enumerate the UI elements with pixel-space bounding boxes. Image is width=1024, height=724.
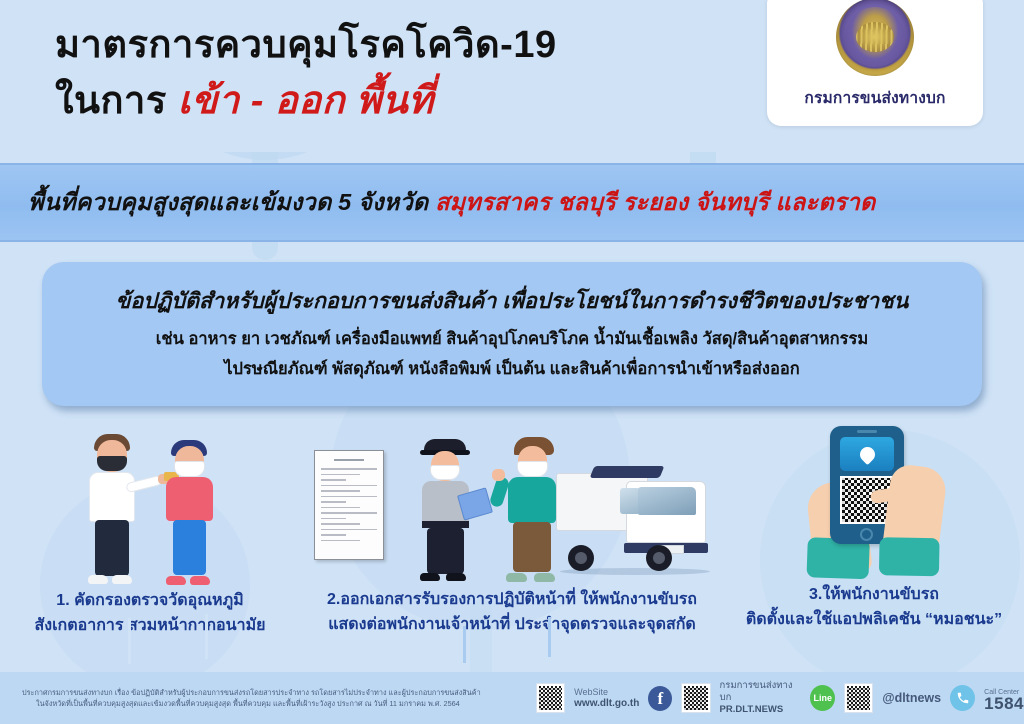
page-title-line2-prefix: ในการ [55, 80, 167, 122]
shoe-shape [112, 575, 132, 584]
call-center-contact: Call Center 1584 [984, 687, 1024, 709]
department-logo-caption: กรมการขนส่งทางบก [804, 85, 945, 110]
zone-banner: พื้นที่ควบคุมสูงสุดและเข้มงวด 5 จังหวัด … [0, 163, 1024, 242]
disclaimer-line-2: ในจังหวัดที่เป็นพื้นที่ควบคุมสูงสุดและเข… [22, 698, 536, 710]
zone-banner-provinces: สมุทรสาคร ชลบุรี ระยอง จันทบุรี และตราด [435, 189, 875, 215]
facebook-org-name: กรมการขนส่งทางบก [720, 680, 802, 704]
guidelines-heading: ข้อปฏิบัติสำหรับผู้ประกอบการขนส่งสินค้า … [116, 284, 909, 318]
step-caption-line2: ติดตั้งและใช้แอปพลิเคชัน “หมอชนะ” [724, 607, 1024, 632]
line-handle[interactable]: @dltnews [882, 691, 941, 705]
footer-disclaimer: ประกาศกรมการขนส่งทางบก เรื่อง ข้อปฏิบัติ… [0, 687, 536, 710]
line-qr-code-icon[interactable] [844, 683, 873, 713]
website-contact: WebSite www.dlt.go.th [574, 686, 639, 710]
officer-document-truck-illustration [310, 428, 714, 583]
government-seal-icon [836, 0, 914, 76]
torso-shape [89, 472, 135, 522]
face-mask-icon [430, 465, 460, 480]
line-icon[interactable]: Line [810, 685, 835, 711]
facebook-contact: กรมการขนส่งทางบก PR.DLT.NEWS [720, 680, 802, 716]
person-staff-figure [78, 432, 148, 582]
thermometer-screening-illustration [70, 432, 230, 582]
step-panel-document: 2.ออกเอกสารรับรองการปฏิบัติหน้าที่ ให้พน… [300, 420, 724, 637]
app-logo-icon [840, 437, 894, 471]
disclaimer-line-1: ประกาศกรมการขนส่งทางบก เรื่อง ข้อปฏิบัติ… [22, 687, 536, 699]
phone-icon [950, 685, 975, 711]
officer-figure [408, 439, 484, 579]
delivery-truck-icon [554, 455, 714, 575]
shoe-shape [88, 575, 108, 584]
department-logo-plate: กรมการขนส่งทางบก [767, 0, 983, 126]
poster-header: มาตรการควบคุมโรคโควิด-19 ในการ เข้า - ออ… [0, 0, 1024, 152]
step-caption-line2: แสดงต่อพนักงานเจ้าหน้าที่ ประจำจุดตรวจแล… [300, 612, 724, 637]
step-panel-app: 3.ให้พนักงานขับรถ ติดตั้งและใช้แอปพลิเคช… [724, 420, 1024, 632]
poster-footer: ประกาศกรมการขนส่งทางบก เรื่อง ข้อปฏิบัติ… [0, 672, 1024, 724]
zone-banner-text: พื้นที่ควบคุมสูงสุดและเข้มงวด 5 จังหวัด … [0, 184, 875, 221]
step-panel-screening: 1. คัดกรองตรวจวัดอุณหภูมิ สังเกตอาการ สว… [0, 420, 300, 638]
page-title-line2-highlight: เข้า - ออก พื้นที่ [178, 80, 434, 122]
phone-qr-scan-illustration [774, 426, 974, 578]
step-caption-line1: 3.ให้พนักงานขับรถ [724, 582, 1024, 607]
website-qr-code-icon[interactable] [536, 683, 565, 713]
face-mask-icon [517, 461, 548, 477]
certificate-document-icon [314, 450, 384, 560]
infographic-poster: มาตรการควบคุมโรคโควิด-19 ในการ เข้า - ออ… [0, 0, 1024, 724]
steps-panel-group: 1. คัดกรองตรวจวัดอุณหภูมิ สังเกตอาการ สว… [0, 420, 1024, 670]
guidelines-line-2: ไปรษณียภัณฑ์ พัสดุภัณฑ์ หนังสือพิมพ์ เป็… [224, 354, 800, 384]
page-title-line2: ในการ เข้า - ออก พื้นที่ [55, 72, 755, 130]
website-url[interactable]: www.dlt.go.th [574, 698, 639, 710]
page-title-line1: มาตรการควบคุมโรคโควิด-19 [55, 18, 755, 72]
step-caption-line1: 2.ออกเอกสารรับรองการปฏิบัติหน้าที่ ให้พน… [300, 587, 724, 612]
call-center-number[interactable]: 1584 [984, 698, 1024, 709]
facebook-qr-code-icon[interactable] [681, 683, 710, 713]
shoe-shape [166, 576, 186, 585]
footer-contacts: WebSite www.dlt.go.th f กรมการขนส่งทางบก… [536, 680, 1024, 716]
step-caption-line1: 1. คัดกรองตรวจวัดอุณหภูมิ [0, 588, 300, 613]
hand-tapping-screen [880, 463, 948, 573]
header-title-group: มาตรการควบคุมโรคโควิด-19 ในการ เข้า - ออ… [55, 18, 755, 130]
legs-shape [95, 520, 129, 576]
facebook-icon[interactable]: f [648, 686, 672, 711]
guidelines-line-1: เช่น อาหาร ยา เวชภัณฑ์ เครื่องมือแพทย์ ส… [156, 324, 868, 354]
guidelines-card: ข้อปฏิบัติสำหรับผู้ประกอบการขนส่งสินค้า … [42, 262, 982, 406]
legs-shape [173, 520, 206, 575]
website-label: WebSite [574, 686, 639, 698]
line-label: Line [813, 693, 832, 703]
face-mask-icon [97, 456, 127, 471]
facebook-page-name[interactable]: PR.DLT.NEWS [720, 704, 802, 716]
step-caption-line2: สังเกตอาการ สวมหน้ากากอนามัย [0, 613, 300, 638]
zone-banner-label: พื้นที่ควบคุมสูงสุดและเข้มงวด 5 จังหวัด [28, 189, 428, 215]
face-mask-icon [174, 461, 205, 477]
torso-shape [166, 477, 213, 521]
shoe-shape [190, 576, 210, 585]
person-visitor-figure [156, 436, 226, 582]
